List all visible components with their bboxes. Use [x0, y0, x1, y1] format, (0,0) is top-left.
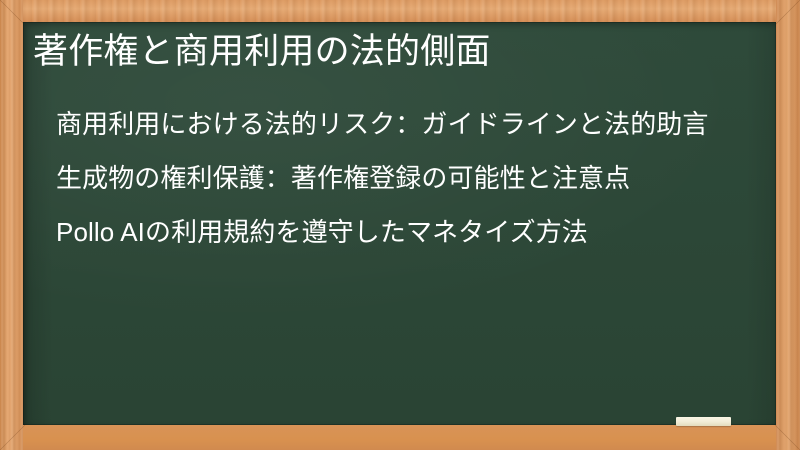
bullet-list: 商用利用における法的リスク：ガイドラインと法的助言 生成物の権利保護：著作権登録… [56, 106, 746, 250]
list-item: Pollo AIの利用規約を遵守したマネタイズ方法 [56, 214, 746, 250]
chalkboard-surface: 著作権と商用利用の法的側面 商用利用における法的リスク：ガイドラインと法的助言 … [23, 22, 776, 425]
chalk-stick [676, 417, 731, 426]
list-item: 商用利用における法的リスク：ガイドラインと法的助言 [56, 106, 746, 142]
slide-content: 著作権と商用利用の法的側面 商用利用における法的リスク：ガイドラインと法的助言 … [23, 22, 776, 425]
page-title: 著作権と商用利用の法的側面 [33, 31, 756, 74]
chalkboard-slide: 著作権と商用利用の法的側面 商用利用における法的リスク：ガイドラインと法的助言 … [0, 0, 800, 450]
frame-bottom-ledge [0, 425, 800, 450]
frame-left-rail [0, 0, 23, 450]
list-item: 生成物の権利保護：著作権登録の可能性と注意点 [56, 160, 746, 196]
frame-top-rail [0, 0, 800, 22]
frame-right-rail [776, 0, 800, 450]
